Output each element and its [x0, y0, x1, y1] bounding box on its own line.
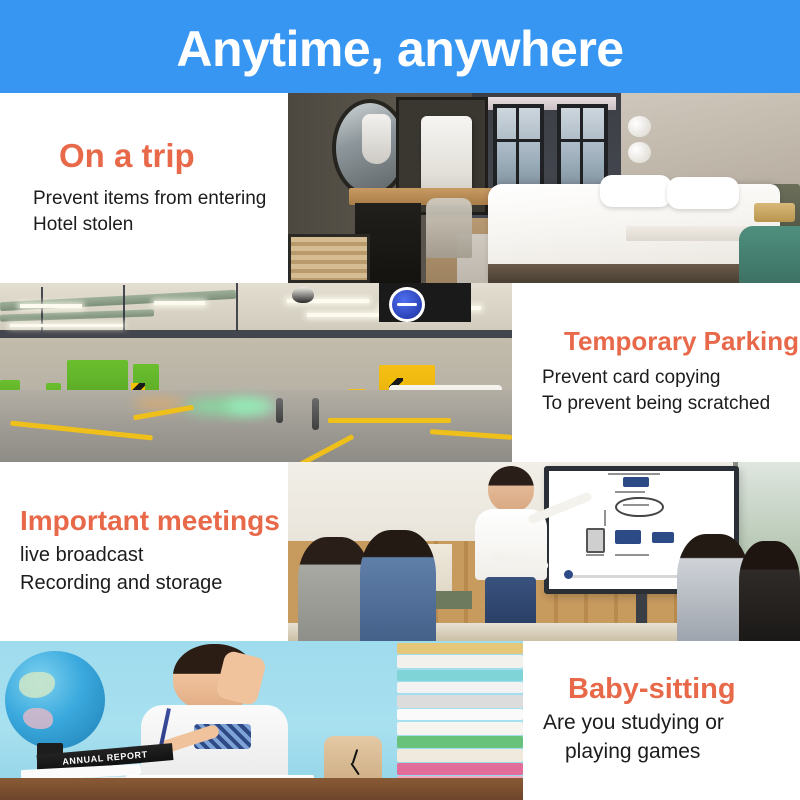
section-baby-sitting: ANNUAL REPORT: [0, 641, 800, 800]
section-text-baby-sitting: Baby-sitting Are you studying or playing…: [523, 641, 800, 800]
section-line-2: To prevent being scratched: [542, 391, 800, 417]
infographic-page: Anytime, anywhere: [0, 0, 800, 800]
section-title: On a trip: [33, 138, 288, 174]
page-title: Anytime, anywhere: [176, 24, 623, 74]
section-line-1: live broadcast: [20, 542, 288, 570]
section-important-meetings: Important meetings live broadcast Record…: [0, 462, 800, 641]
hotel-room-photo: [288, 93, 800, 283]
section-line-2: playing games: [543, 738, 800, 767]
section-line-2: Hotel stolen: [33, 212, 288, 238]
section-text-important-meetings: Important meetings live broadcast Record…: [0, 462, 288, 641]
section-temporary-parking: Temporary Parking Prevent card copying T…: [0, 283, 800, 462]
page-header-banner: Anytime, anywhere: [0, 0, 800, 93]
section-text-on-a-trip: On a trip Prevent items from entering Ho…: [0, 93, 288, 283]
section-line-1: Are you studying or: [543, 709, 800, 738]
section-title: Baby-sitting: [543, 674, 800, 706]
meeting-room-photo: [288, 462, 800, 641]
parking-garage-photo: [0, 283, 512, 462]
section-line-1: Prevent card copying: [542, 365, 800, 391]
section-line-1: Prevent items from entering: [33, 186, 288, 212]
section-title: Temporary Parking: [542, 327, 800, 356]
section-text-temporary-parking: Temporary Parking Prevent card copying T…: [512, 283, 800, 462]
section-title: Important meetings: [20, 506, 288, 537]
child-studying-photo: ANNUAL REPORT: [0, 641, 523, 800]
section-line-2: Recording and storage: [20, 570, 288, 598]
section-on-a-trip: On a trip Prevent items from entering Ho…: [0, 93, 800, 283]
